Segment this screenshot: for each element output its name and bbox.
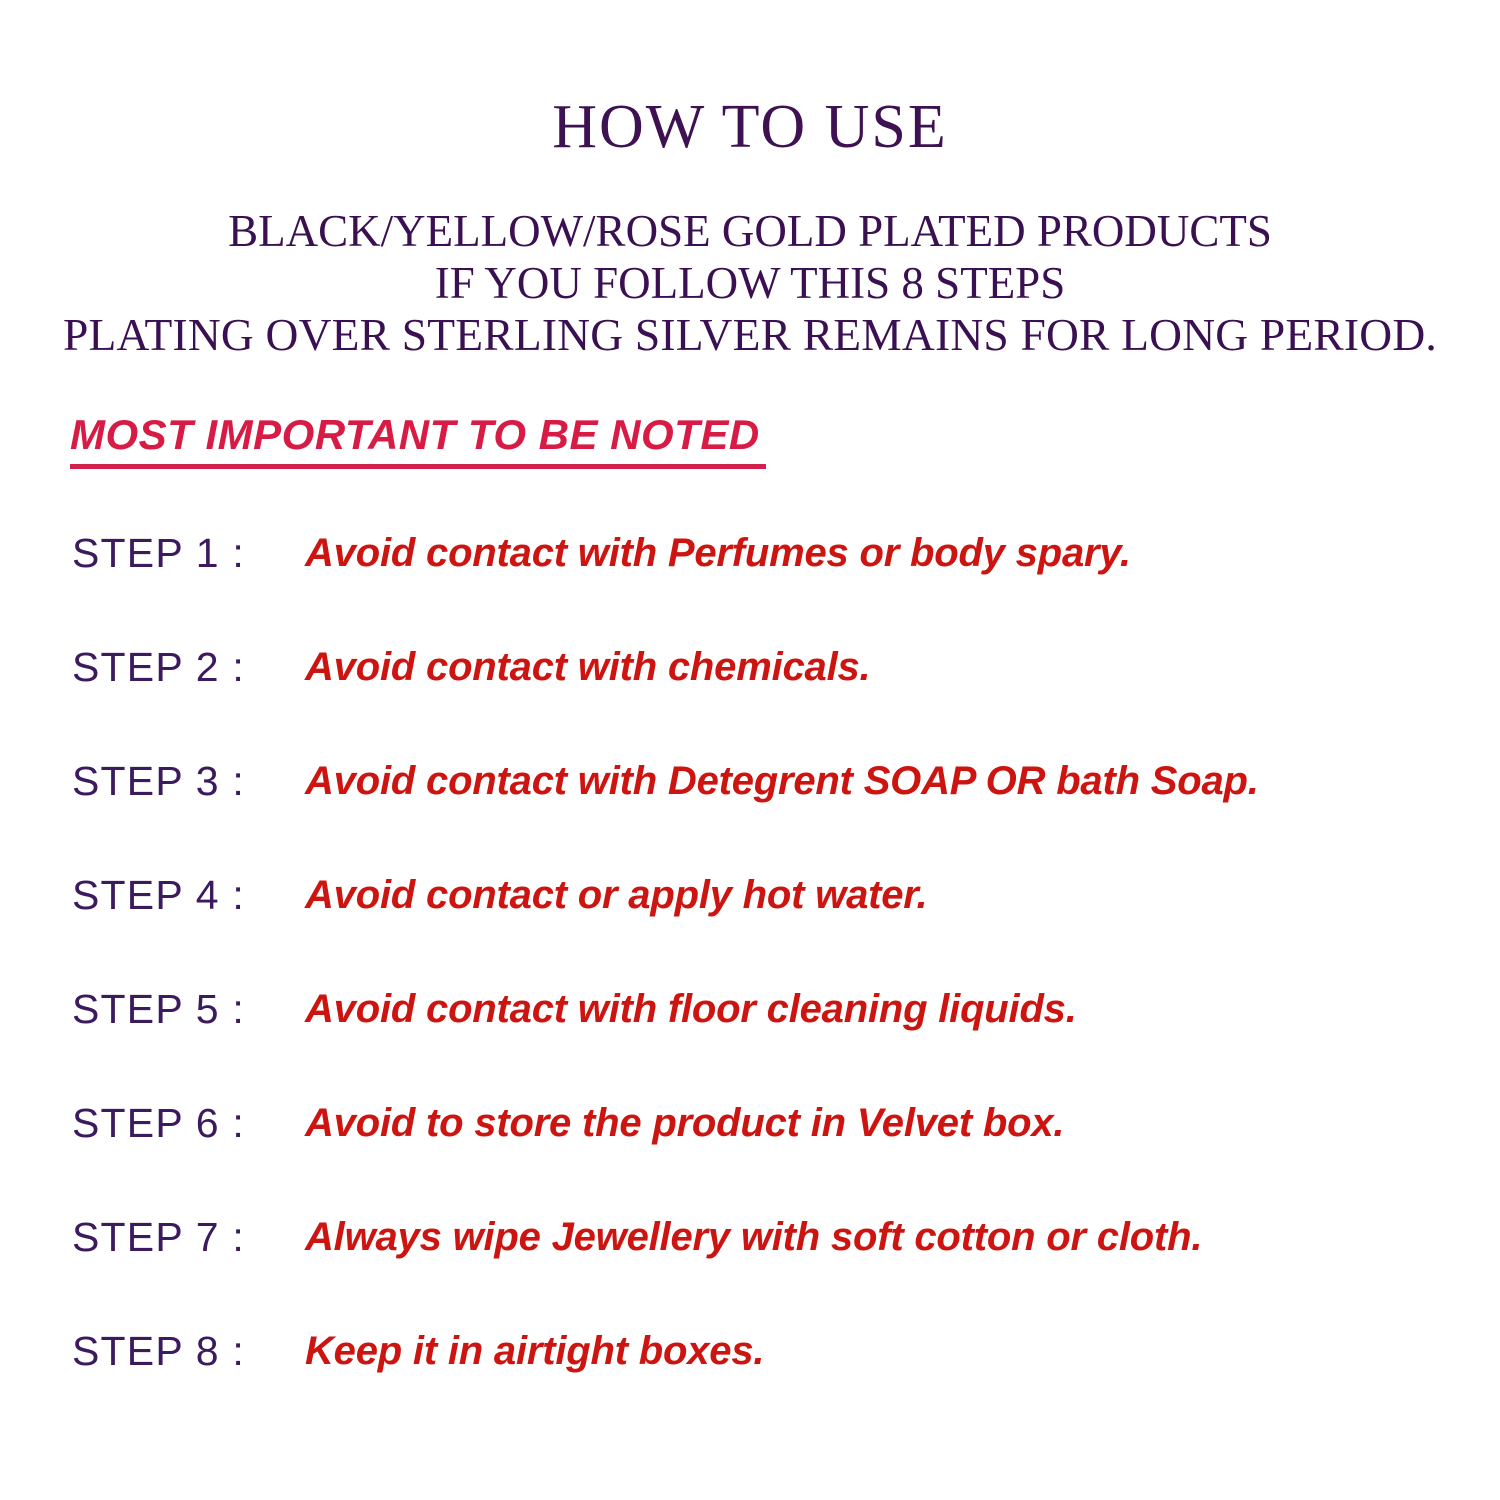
step-label: STEP 7 : <box>72 1212 245 1262</box>
step-description: Avoid contact with floor cleaning liquid… <box>305 984 1077 1034</box>
step-description: Always wipe Jewellery with soft cotton o… <box>305 1212 1202 1262</box>
step-description: Avoid to store the product in Velvet box… <box>305 1098 1064 1148</box>
step-row: STEP 5 : Avoid contact with floor cleani… <box>0 984 1500 1098</box>
page-title: HOW TO USE <box>0 96 1500 158</box>
subtitle-block: BLACK/YELLOW/ROSE GOLD PLATED PRODUCTS I… <box>0 205 1500 361</box>
step-row: STEP 6 : Avoid to store the product in V… <box>0 1098 1500 1212</box>
step-label: STEP 5 : <box>72 984 245 1034</box>
notice-heading-wrap: MOST IMPORTANT TO BE NOTED <box>70 412 766 469</box>
instruction-card: HOW TO USE BLACK/YELLOW/ROSE GOLD PLATED… <box>0 0 1500 1500</box>
step-description: Avoid contact with Detegrent SOAP OR bat… <box>305 756 1259 806</box>
step-row: STEP 3 : Avoid contact with Detegrent SO… <box>0 756 1500 870</box>
header-block: HOW TO USE <box>0 96 1500 158</box>
step-row: STEP 4 : Avoid contact or apply hot wate… <box>0 870 1500 984</box>
subtitle-line-1: BLACK/YELLOW/ROSE GOLD PLATED PRODUCTS <box>0 205 1500 257</box>
subtitle-line-3: PLATING OVER STERLING SILVER REMAINS FOR… <box>0 309 1500 361</box>
step-label: STEP 6 : <box>72 1098 245 1148</box>
steps-list: STEP 1 : Avoid contact with Perfumes or … <box>0 528 1500 1440</box>
step-description: Avoid contact or apply hot water. <box>305 870 927 920</box>
step-description: Avoid contact with chemicals. <box>305 642 870 692</box>
step-description: Avoid contact with Perfumes or body spar… <box>305 528 1131 578</box>
step-label: STEP 1 : <box>72 528 245 578</box>
step-label: STEP 8 : <box>72 1326 245 1376</box>
step-row: STEP 8 : Keep it in airtight boxes. <box>0 1326 1500 1440</box>
step-description: Keep it in airtight boxes. <box>305 1326 764 1376</box>
step-label: STEP 4 : <box>72 870 245 920</box>
notice-heading: MOST IMPORTANT TO BE NOTED <box>70 412 766 469</box>
subtitle-line-2: IF YOU FOLLOW THIS 8 STEPS <box>0 257 1500 309</box>
step-row: STEP 1 : Avoid contact with Perfumes or … <box>0 528 1500 642</box>
step-label: STEP 3 : <box>72 756 245 806</box>
step-row: STEP 2 : Avoid contact with chemicals. <box>0 642 1500 756</box>
step-label: STEP 2 : <box>72 642 245 692</box>
step-row: STEP 7 : Always wipe Jewellery with soft… <box>0 1212 1500 1326</box>
